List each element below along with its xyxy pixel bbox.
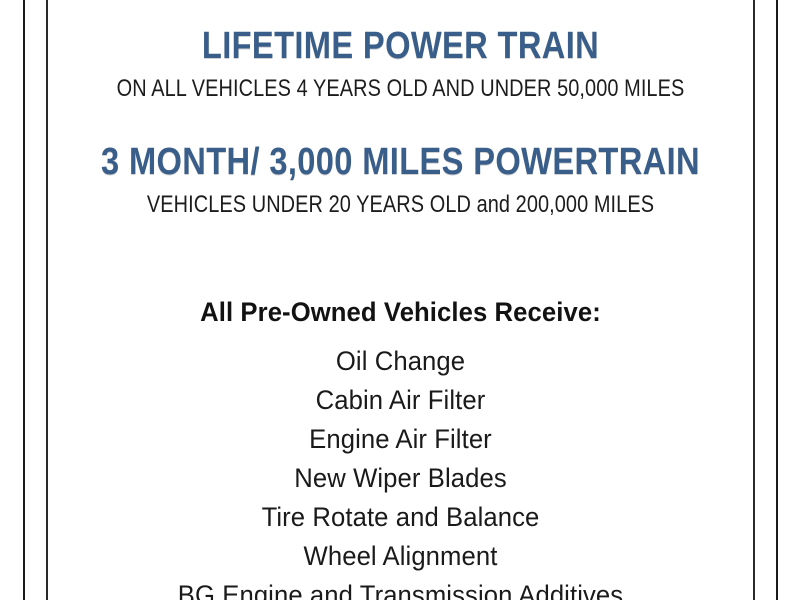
offer-subline-lifetime-powertrain: ON ALL VEHICLES 4 YEARS OLD AND UNDER 50… [108, 76, 693, 101]
list-item: Engine Air Filter [66, 420, 736, 459]
list-item: Cabin Air Filter [66, 381, 736, 420]
list-item: BG Engine and Transmission Additives [66, 576, 736, 600]
services-section-title: All Pre-Owned Vehicles Receive: [66, 299, 736, 326]
offer-block-lifetime-powertrain: LIFETIME POWER TRAIN ON ALL VEHICLES 4 Y… [48, 27, 753, 101]
services-list: Oil Change Cabin Air Filter Engine Air F… [48, 342, 753, 600]
offer-subline-3month-powertrain: VEHICLES UNDER 20 YEARS OLD and 200,000 … [108, 192, 693, 217]
right-inner-rule [753, 0, 755, 600]
list-item: Tire Rotate and Balance [66, 498, 736, 537]
right-outer-rule [776, 0, 778, 600]
left-outer-rule [23, 0, 25, 600]
flyer-content: LIFETIME POWER TRAIN ON ALL VEHICLES 4 Y… [48, 0, 753, 600]
offer-headline-3month-powertrain: 3 MONTH/ 3,000 MILES POWERTRAIN [97, 143, 703, 182]
warranty-flyer: LIFETIME POWER TRAIN ON ALL VEHICLES 4 Y… [0, 0, 800, 600]
list-item: Oil Change [66, 342, 736, 381]
list-item: Wheel Alignment [66, 537, 736, 576]
offer-block-3month-powertrain: 3 MONTH/ 3,000 MILES POWERTRAIN VEHICLES… [48, 143, 753, 217]
services-section: All Pre-Owned Vehicles Receive: Oil Chan… [48, 299, 753, 600]
list-item: New Wiper Blades [66, 459, 736, 498]
offer-headline-lifetime-powertrain: LIFETIME POWER TRAIN [97, 27, 703, 66]
